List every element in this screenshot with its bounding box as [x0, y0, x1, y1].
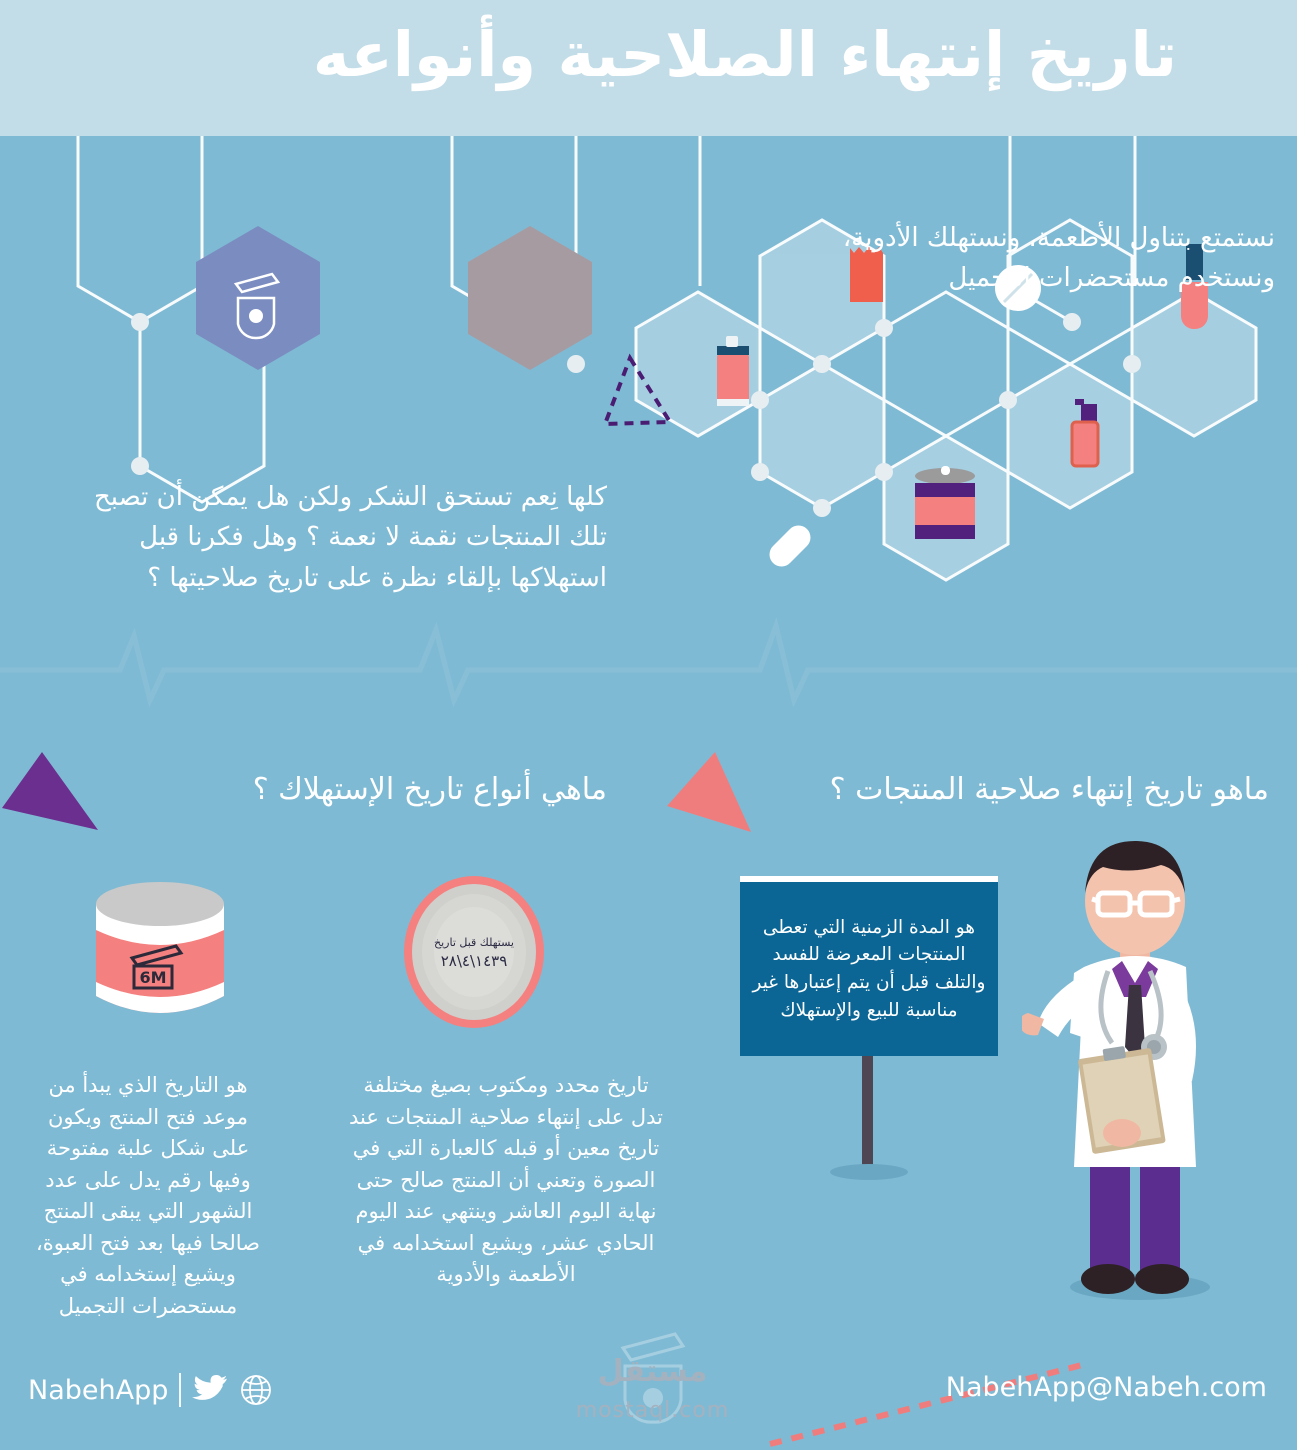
ecg-line-decoration: [0, 590, 1297, 730]
page-title: تاريخ إنتهاء الصلاحية وأنواعه: [117, 16, 1177, 94]
footer-divider: [179, 1373, 181, 1407]
sign-shadow: [830, 1164, 908, 1180]
hex-gray: [468, 226, 592, 370]
can-date-value: ١٤٣٩\٤\٢٨: [441, 952, 508, 970]
section-heading-what-is-expiry: ماهو تاريخ إنتهاء صلاحية المنتجات ؟: [830, 772, 1269, 807]
type-description-best-before: تاريخ محدد ومكتوب بصيغ مختلفة تدل على إن…: [347, 1070, 665, 1291]
intro-paragraph-right: نستمتع بتناول الأطعمة، ونستهلك الأدوية، …: [755, 218, 1275, 299]
footer-handle[interactable]: NabehApp: [28, 1375, 168, 1406]
footer-email[interactable]: NabehApp@Nabeh.com: [946, 1372, 1267, 1403]
sign-text: هو المدة الزمنية التي تعطى المنتجات المع…: [740, 910, 998, 1029]
sign-pole: [862, 1056, 873, 1171]
section-marker-coral: [653, 748, 763, 838]
tin-can-icon: [915, 466, 975, 539]
page-header: تاريخ إنتهاء الصلاحية وأنواعه: [0, 0, 1297, 136]
cosmetic-jar-illustration: 6M: [78, 866, 243, 1031]
definition-sign: هو المدة الزمنية التي تعطى المنتجات المع…: [740, 868, 1000, 1288]
doctor-illustration: [1022, 835, 1257, 1305]
watermark-latin: mostaql.com: [545, 1398, 760, 1423]
can-best-before-label: يستهلك قبل تاريخ: [434, 936, 514, 949]
section-heading-types: ماهي أنواع تاريخ الإستهلاك ؟: [253, 772, 607, 807]
section-marker-purple: [0, 746, 104, 836]
type-description-pao: هو التاريخ الذي يبدأ من موعد فتح المنتج …: [27, 1070, 269, 1322]
can-top-illustration: يستهلك قبل تاريخ ١٤٣٩\٤\٢٨: [372, 872, 577, 1032]
soda-can-icon: [717, 336, 749, 406]
infographic-canvas: تاريخ إنتهاء الصلاحية وأنواعه: [0, 0, 1297, 1441]
sign-board: هو المدة الزمنية التي تعطى المنتجات المع…: [740, 876, 998, 1056]
capsule-icon: [765, 521, 816, 572]
watermark-arabic: مستقل: [545, 1354, 760, 1389]
pao-months-label: 6M: [139, 968, 166, 987]
globe-icon[interactable]: [239, 1373, 273, 1407]
hex-logo-filled: [196, 226, 320, 370]
footer-social: NabehApp: [28, 1368, 273, 1412]
twitter-icon[interactable]: [192, 1374, 228, 1406]
watermark: مستقل mostaql.com: [545, 1322, 760, 1432]
intro-paragraph-left: كلها نِعم تستحق الشكر ولكن هل يمكن أن تص…: [67, 477, 607, 598]
